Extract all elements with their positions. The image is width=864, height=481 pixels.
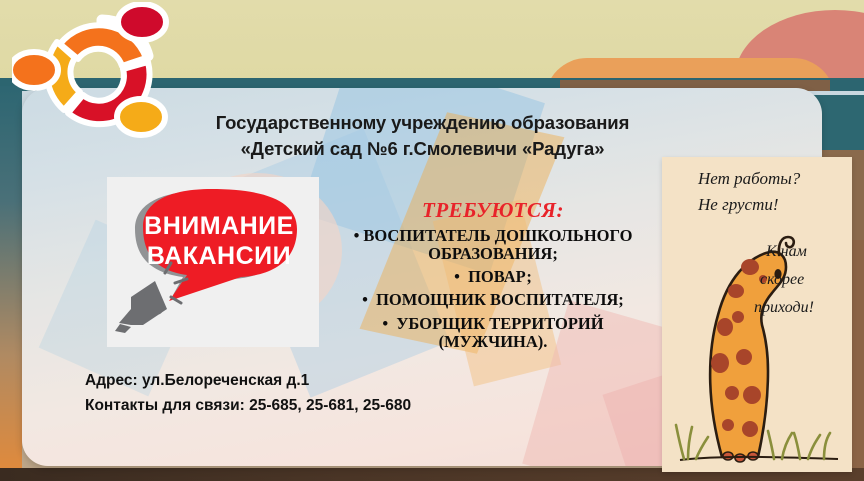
vacancy-item-3-text: ПОМОЩНИК ВОСПИТАТЕЛЯ;	[376, 290, 624, 309]
vacancy-item-1: •ВОСПИТАТЕЛЬ ДОШКОЛЬНОГО ОБРАЗОВАНИЯ;	[318, 227, 668, 263]
bullet-icon: •	[382, 314, 388, 333]
contacts-block: Адрес: ул.Белореченская д.1 Контакты для…	[85, 368, 411, 419]
heading-line-1: Государственному учреждению образования	[150, 110, 695, 136]
logo-dot-red	[118, 4, 166, 40]
address-line: Адрес: ул.Белореченская д.1	[85, 368, 411, 393]
vacancy-item-1-line-1: ВОСПИТАТЕЛЬ ДОШКОЛЬНОГО	[363, 226, 632, 245]
phones-line: Контакты для связи: 25-685, 25-681, 25-6…	[85, 393, 411, 418]
vacancy-item-1-line-2: ОБРАЗОВАНИЯ;	[318, 245, 668, 263]
giraffe-card: Нет работы? Не грусти! К нам скорее прих…	[662, 157, 852, 472]
ground-line	[680, 457, 838, 460]
giraffe-text-line-1: Нет работы?	[698, 169, 800, 189]
bullet-icon: •	[362, 290, 368, 309]
attention-illustration: ВНИМАНИЕ ВАКАНСИИ	[107, 177, 319, 347]
giraffe-text-line-5: приходи!	[754, 299, 814, 317]
megaphone-icon	[115, 281, 167, 333]
giraffe-text-line-4: скорее	[760, 271, 804, 289]
vacancy-item-4-line-1: УБОРЩИК ТЕРРИТОРИЙ	[396, 314, 603, 333]
vacancy-item-4: • УБОРЩИК ТЕРРИТОРИЙ (МУЖЧИНА).	[318, 315, 668, 351]
heading-line-2: «Детский сад №6 г.Смолевичи «Радуга»	[150, 136, 695, 162]
vacancy-item-2: • ПОВАР;	[318, 268, 668, 286]
bullet-icon: •	[354, 226, 360, 245]
vacancy-item-4-line-2: (МУЖЧИНА).	[318, 333, 668, 351]
vacancy-poster: Государственному учреждению образования …	[0, 0, 864, 481]
poster-heading: Государственному учреждению образования …	[150, 110, 695, 163]
giraffe-text-line-3: К нам	[766, 243, 807, 261]
vacancy-item-2-text: ПОВАР;	[468, 267, 532, 286]
giraffe-text-line-2: Не грусти!	[698, 195, 779, 215]
background-left-strip	[0, 86, 22, 471]
bubble-text-line-1: ВНИМАНИЕ	[144, 212, 294, 240]
logo-dot-orange	[12, 52, 58, 88]
attention-card: ВНИМАНИЕ ВАКАНСИИ	[107, 177, 319, 347]
vacancy-title: ТРЕБУЮТСЯ:	[318, 198, 668, 223]
bullet-icon: •	[454, 267, 460, 286]
vacancy-item-3: • ПОМОЩНИК ВОСПИТАТЕЛЯ;	[318, 291, 668, 309]
vacancy-block: ТРЕБУЮТСЯ: •ВОСПИТАТЕЛЬ ДОШКОЛЬНОГО ОБРА…	[318, 198, 668, 356]
